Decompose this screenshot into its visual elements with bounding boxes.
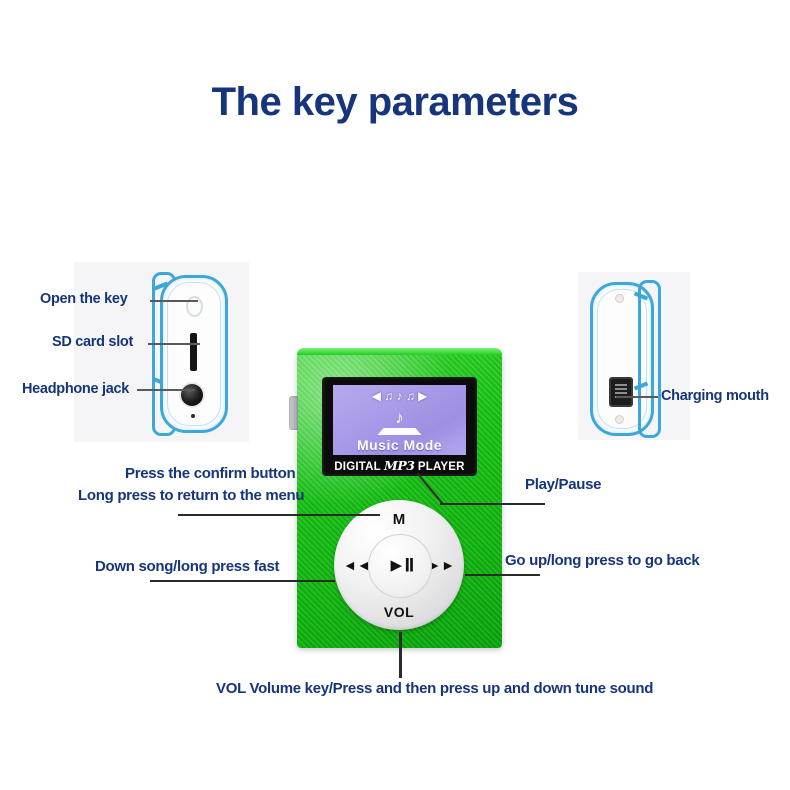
label-sd-card-slot: SD card slot <box>52 334 133 350</box>
label-charging-mouth: Charging mouth <box>661 388 769 404</box>
leader-down-song <box>150 580 335 582</box>
leader-confirm-button <box>178 514 380 516</box>
leader-sd-slot <box>148 343 200 345</box>
card-slot-icon <box>190 333 197 371</box>
leader-charging-mouth <box>616 396 658 398</box>
leader-open-key <box>150 300 198 302</box>
callout-confirm-line2: Long press to return to the menu <box>78 487 304 504</box>
leader-go-up <box>465 574 540 576</box>
screw-icon-top <box>615 294 624 303</box>
callout-play-pause: Play/Pause <box>525 476 601 493</box>
label-open-the-key: Open the key <box>40 291 127 307</box>
device-side-body <box>160 275 228 433</box>
label-headphone-jack: Headphone jack <box>22 381 129 397</box>
leader-play-pause-h <box>440 503 545 505</box>
mp3-player-front: ◀ ♫ ♪ ♫ ▶ ♪ Music Mode DIGITAL MP3 PLAYE… <box>297 348 502 648</box>
lcd-status-icons: ◀ ♫ ♪ ♫ ▶ <box>333 389 466 403</box>
reset-pinhole-icon <box>191 414 195 418</box>
lcd-mode-text: Music Mode <box>333 437 466 453</box>
brand-prefix: DIGITAL <box>334 461 380 473</box>
leader-volume <box>399 632 402 678</box>
screen-bezel: ◀ ♫ ♪ ♫ ▶ ♪ Music Mode DIGITAL MP3 PLAYE… <box>322 377 477 476</box>
callout-down-song: Down song/long press fast <box>95 558 279 575</box>
screw-icon-bottom <box>615 415 624 424</box>
play-pause-icon[interactable]: ►II <box>387 557 413 576</box>
callout-go-up: Go up/long press to go back <box>505 552 699 569</box>
volume-button[interactable]: VOL <box>384 605 414 619</box>
menu-button[interactable]: M <box>393 512 406 527</box>
page-title: The key parameters <box>0 80 790 125</box>
control-wheel[interactable]: M ◄◄ ►► VOL ►II <box>334 500 464 630</box>
left-device-photo <box>74 262 249 442</box>
belt-clip-icon-right <box>638 280 661 438</box>
infographic-canvas: The key parameters Open the key SD card … <box>0 0 790 790</box>
usb-port-icon <box>609 377 633 407</box>
headphone-jack-icon <box>181 384 203 406</box>
player-top-edge <box>297 348 502 355</box>
previous-track-button[interactable]: ◄◄ <box>343 558 371 572</box>
power-slider-button[interactable] <box>289 396 298 430</box>
lcd-pedestal-icon <box>378 428 422 435</box>
right-device-photo <box>578 272 690 440</box>
brand-text: DIGITAL MP3 PLAYER <box>322 458 477 473</box>
brand-suffix: PLAYER <box>418 461 465 473</box>
brand-mp3: MP3 <box>384 458 414 473</box>
lcd-screen: ◀ ♫ ♪ ♫ ▶ ♪ Music Mode <box>333 385 466 455</box>
callout-confirm-line1: Press the confirm button <box>125 465 295 482</box>
callout-volume: VOL Volume key/Press and then press up a… <box>216 680 653 697</box>
leader-headphone-jack <box>137 389 195 391</box>
center-button[interactable]: ►II <box>368 534 432 598</box>
music-note-icon: ♪ <box>333 409 466 426</box>
